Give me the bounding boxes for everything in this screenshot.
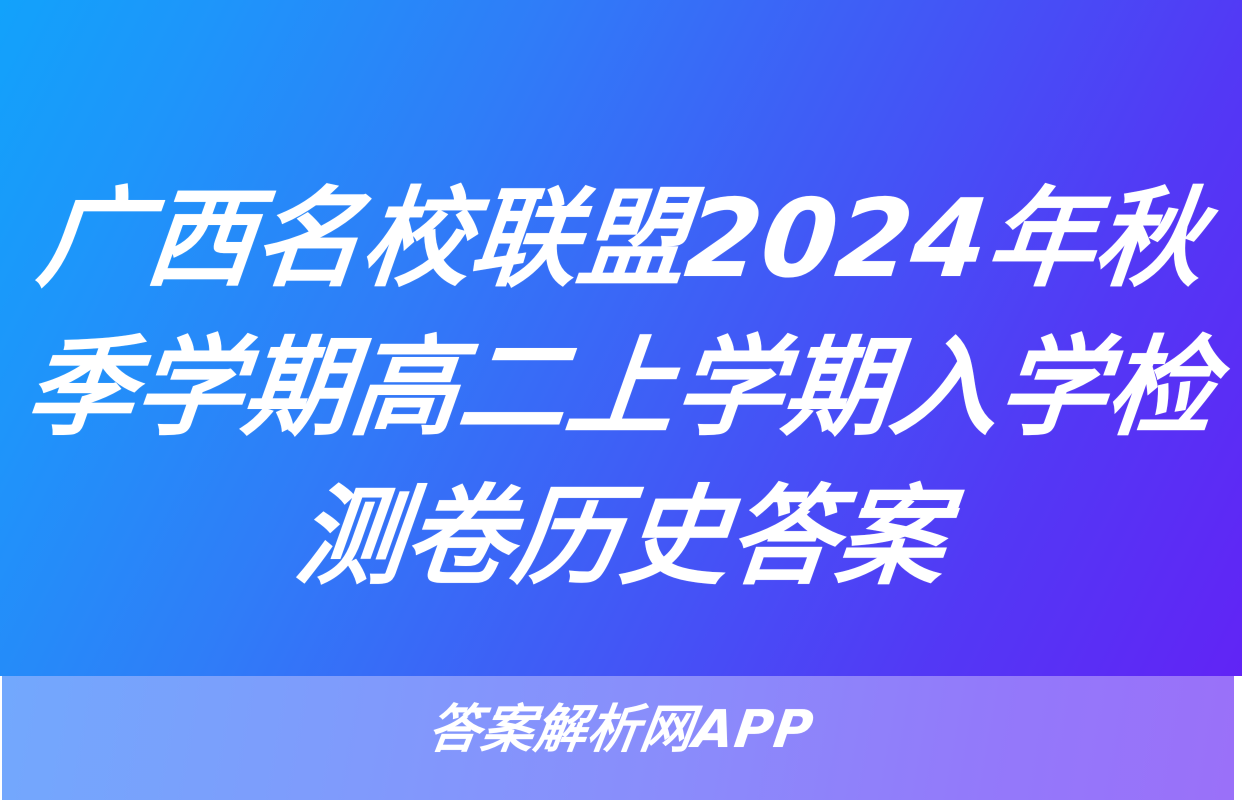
title-line-1: 广西名校联盟2024年秋 (0, 186, 1242, 294)
title-line-3: 测卷历史答案 (0, 484, 1242, 592)
footer-watermark: 答案解析网APP (0, 703, 1242, 758)
page-title: 广西名校联盟2024年秋 季学期高二上学期入学检 测卷历史答案 (0, 186, 1242, 592)
poster-canvas: 广西名校联盟2024年秋 季学期高二上学期入学检 测卷历史答案 答案解析网APP (0, 0, 1242, 800)
title-line-2: 季学期高二上学期入学检 (0, 335, 1242, 443)
